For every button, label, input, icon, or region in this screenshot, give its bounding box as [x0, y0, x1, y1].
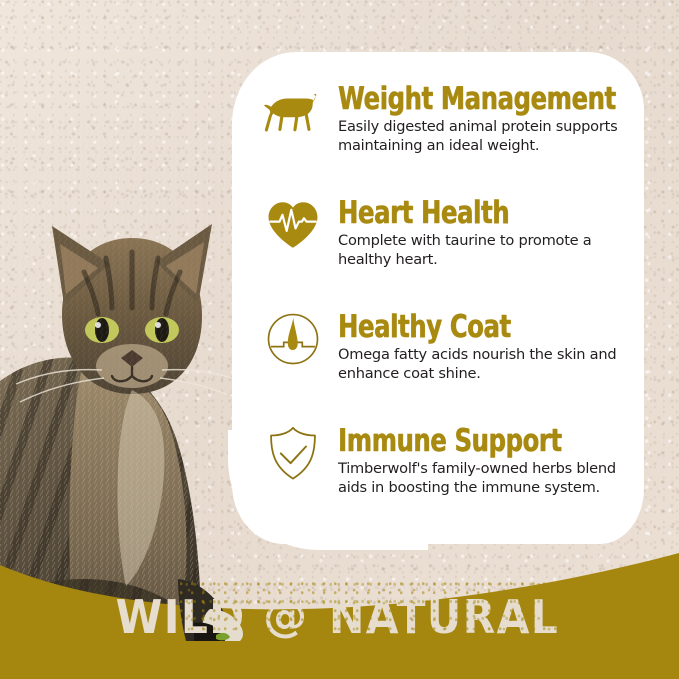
hair-follicle-icon — [262, 310, 324, 368]
feature-title: Heart Health — [338, 198, 587, 228]
feature-title: Healthy Coat — [338, 312, 587, 342]
shield-check-icon — [262, 424, 324, 482]
walking-cat-icon — [262, 82, 324, 140]
brand-at-symbol: @ — [263, 595, 307, 639]
feature-item-weight-management: Weight Management Easily digested animal… — [262, 82, 657, 155]
feature-item-heart-health: Heart Health Complete with taurine to pr… — [262, 196, 657, 269]
feature-description: Easily digested animal protein supports … — [338, 118, 643, 155]
heart-ecg-icon — [262, 196, 324, 254]
feature-title: Weight Management — [338, 84, 616, 114]
feature-description: Omega fatty acids nourish the skin and e… — [338, 346, 643, 383]
feature-description: Timberwolf's family-owned herbs blend ai… — [338, 460, 643, 497]
feature-item-immune-support: Immune Support Timberwolf's family-owned… — [262, 424, 657, 497]
feature-item-healthy-coat: Healthy Coat Omega fatty acids nourish t… — [262, 310, 657, 383]
feature-title: Immune Support — [338, 426, 587, 456]
brand-word-natural: NATURAL — [329, 594, 559, 640]
brand-wordmark: WILD @ NATURAL — [0, 529, 679, 679]
product-feature-infographic: Weight Management Easily digested animal… — [0, 0, 679, 679]
feature-description: Complete with taurine to promote a healt… — [338, 232, 643, 269]
brand-word-wild: WILD — [115, 594, 245, 640]
